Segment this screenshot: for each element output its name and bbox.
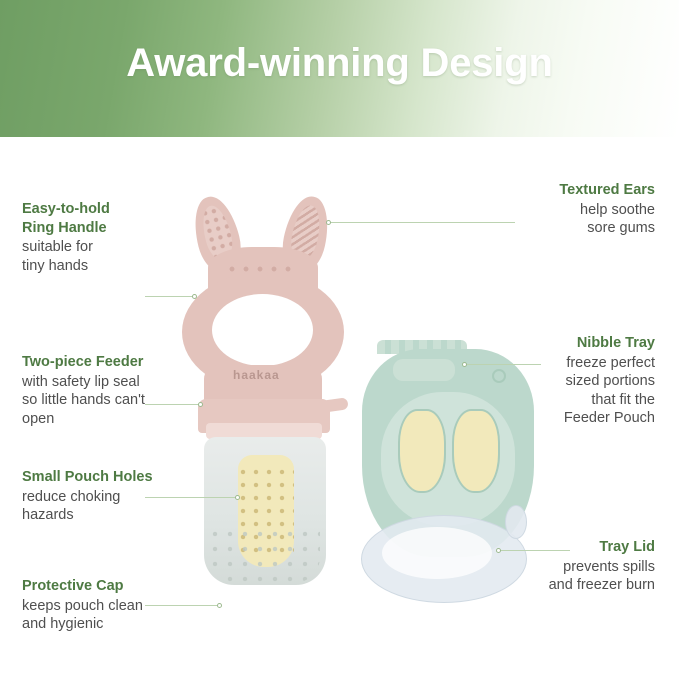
page-title: Award-winning Design [0, 41, 679, 86]
leader-dot-protective-cap [217, 603, 222, 608]
feeder-ring-hole [212, 294, 313, 366]
tray-lid-tab [505, 505, 527, 539]
leader-dot-two-piece-feeder [198, 402, 203, 407]
leader-line-ring-handle [145, 296, 195, 297]
callout-body: freeze perfect sized portions that fit t… [495, 354, 655, 428]
tray-cell-right [452, 409, 500, 493]
leader-line-textured-ears [330, 222, 515, 223]
callout-two-piece-feeder: Two-piece Feeder with safety lip seal so… [22, 353, 182, 428]
callout-title: Protective Cap [22, 577, 182, 596]
brand-logo-text: haakaa [233, 368, 280, 382]
callout-protective-cap: Protective Cap keeps pouch clean and hyg… [22, 577, 182, 634]
feeder-collar-spout [321, 397, 348, 413]
callout-title: Tray Lid [495, 538, 655, 557]
leader-dot-small-pouch-holes [235, 495, 240, 500]
callout-title: Two-piece Feeder [22, 353, 182, 372]
callout-body: keeps pouch clean and hygienic [22, 597, 182, 634]
leader-dot-nibble-tray [462, 362, 467, 367]
tray-cell-left [398, 409, 446, 493]
header-banner: Award-winning Design [0, 0, 679, 137]
callout-title: Easy-to-hold Ring Handle [22, 200, 157, 237]
callout-title: Textured Ears [495, 181, 655, 200]
callout-body: reduce choking hazards [22, 488, 197, 525]
callout-tray-lid: Tray Lid prevents spills and freezer bur… [495, 538, 655, 595]
tray-lid-highlight [382, 527, 492, 579]
callout-body: with safety lip seal so little hands can… [22, 373, 182, 429]
leader-dot-ring-handle [192, 294, 197, 299]
callout-textured-ears: Textured Ears help soothe sore gums [495, 181, 655, 238]
callout-easy-to-hold-ring-handle: Easy-to-hold Ring Handle suitable for ti… [22, 200, 157, 275]
callout-body: suitable for tiny hands [22, 238, 157, 275]
callout-body: prevents spills and freezer burn [495, 558, 655, 595]
callout-title: Nibble Tray [495, 334, 655, 353]
leader-dot-textured-ears [326, 220, 331, 225]
callout-body: help soothe sore gums [495, 201, 655, 238]
poster-root: Award-winning Design haakaa [0, 0, 679, 679]
callout-nibble-tray: Nibble Tray freeze perfect sized portion… [495, 334, 655, 428]
feeder-pouch-base-texture [210, 529, 320, 583]
callout-small-pouch-holes: Small Pouch Holes reduce choking hazards [22, 468, 197, 525]
callout-title: Small Pouch Holes [22, 468, 197, 487]
tray-top-patch [393, 359, 455, 381]
